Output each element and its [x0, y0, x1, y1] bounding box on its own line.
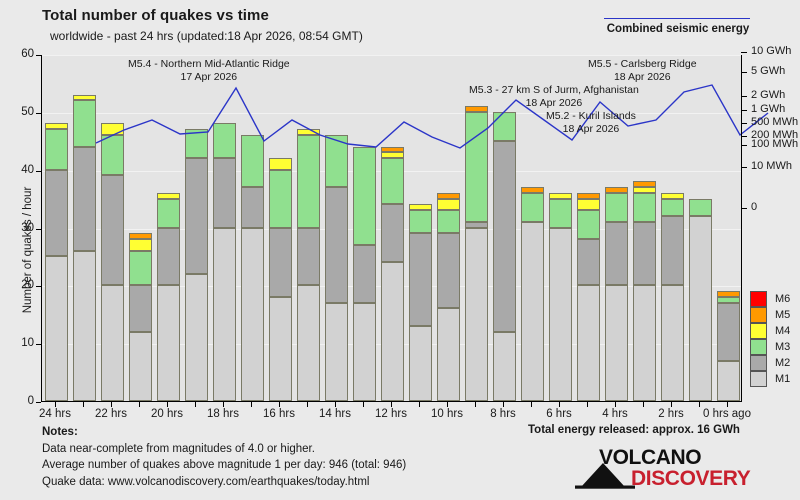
- energy-legend: Combined seismic energy: [604, 18, 752, 35]
- x-axis-tick-label: 14 hrs: [305, 408, 365, 420]
- x-axis-tick-label: 16 hrs: [249, 408, 309, 420]
- right-axis-tick-label: 5 GWh: [751, 66, 785, 77]
- x-axis-tick: [587, 402, 588, 407]
- notes-line-1: Data near-complete from magnitudes of 4.…: [42, 441, 406, 458]
- y-axis-tick-label: 50: [0, 107, 34, 119]
- x-axis-tick: [279, 402, 280, 407]
- legend-label: M4: [775, 325, 790, 337]
- x-axis-tick-label: 8 hrs: [473, 408, 533, 420]
- x-axis-tick-label: 10 hrs: [417, 408, 477, 420]
- x-axis-tick-label: 0 hrs ago: [697, 408, 757, 420]
- right-axis-tick-label: 2 GWh: [751, 90, 785, 101]
- x-axis-tick: [335, 402, 336, 407]
- x-axis-tick-label: 24 hrs: [25, 408, 85, 420]
- x-axis-tick: [727, 402, 728, 407]
- legend-swatch: [750, 339, 767, 355]
- legend-swatch: [750, 371, 767, 387]
- legend-swatch: [750, 307, 767, 323]
- x-axis-tick-label: 18 hrs: [193, 408, 253, 420]
- x-axis-tick: [83, 402, 84, 407]
- legend-label: M1: [775, 373, 790, 385]
- x-axis-tick-label: 20 hrs: [137, 408, 197, 420]
- legend-item-m3[interactable]: M3: [750, 339, 798, 355]
- x-axis-tick: [559, 402, 560, 407]
- right-axis-tick-label: 500 MWh: [751, 117, 798, 128]
- legend-label: M6: [775, 293, 790, 305]
- annotation-line-2: 18 Apr 2026: [469, 97, 639, 110]
- legend-item-m6[interactable]: M6: [750, 291, 798, 307]
- x-axis-tick: [111, 402, 112, 407]
- quake-annotation: M5.2 - Kuril Islands18 Apr 2026: [546, 110, 636, 135]
- total-energy-label: Total energy released: approx. 16 GWh: [528, 424, 740, 436]
- energy-legend-label: Combined seismic energy: [604, 23, 752, 35]
- legend-swatch: [750, 323, 767, 339]
- x-axis-tick: [643, 402, 644, 407]
- y-axis-label: Number of quakes / hour: [22, 187, 34, 314]
- right-axis: [741, 55, 742, 402]
- x-axis-tick: [195, 402, 196, 407]
- notes-line-2: Average number of quakes above magnitude…: [42, 457, 406, 474]
- notes-line-3[interactable]: Quake data: www.volcanodiscovery.com/ear…: [42, 474, 406, 491]
- annotation-line-1: M5.4 - Northern Mid-Atlantic Ridge: [128, 58, 290, 71]
- energy-line-swatch: [604, 18, 750, 19]
- right-axis-tick: [741, 208, 747, 209]
- chart-page: Total number of quakes vs time worldwide…: [0, 0, 800, 500]
- right-axis-tick-label: 10 GWh: [751, 46, 791, 57]
- quake-annotation: M5.5 - Carlsberg Ridge18 Apr 2026: [588, 58, 697, 83]
- x-axis-tick-label: 22 hrs: [81, 408, 141, 420]
- x-axis-tick: [615, 402, 616, 407]
- legend-label: M5: [775, 309, 790, 321]
- annotation-line-2: 18 Apr 2026: [588, 71, 697, 84]
- legend-swatch: [750, 291, 767, 307]
- annotation-line-1: M5.5 - Carlsberg Ridge: [588, 58, 697, 71]
- right-axis-tick: [741, 136, 747, 137]
- y-axis-tick: [36, 113, 41, 114]
- x-axis-tick: [167, 402, 168, 407]
- right-axis-tick: [741, 145, 747, 146]
- y-axis-tick: [36, 402, 41, 403]
- x-axis-tick-label: 6 hrs: [529, 408, 589, 420]
- annotation-line-2: 17 Apr 2026: [128, 71, 290, 84]
- notes-heading: Notes:: [42, 424, 406, 441]
- legend-label: M2: [775, 357, 790, 369]
- x-axis-tick-label: 4 hrs: [585, 408, 645, 420]
- svg-text:VOLCANO: VOLCANO: [599, 447, 701, 469]
- right-axis-tick-label: 10 MWh: [751, 161, 792, 172]
- y-axis-tick-label: 10: [0, 338, 34, 350]
- right-axis-tick: [741, 72, 747, 73]
- y-axis-tick-label: 20: [0, 280, 34, 292]
- y-axis-tick: [36, 55, 41, 56]
- x-axis-tick: [363, 402, 364, 407]
- y-axis-tick-label: 0: [0, 396, 34, 408]
- quake-annotation: M5.3 - 27 km S of Jurm, Afghanistan18 Ap…: [469, 84, 639, 109]
- x-axis-tick: [55, 402, 56, 407]
- legend-item-m2[interactable]: M2: [750, 355, 798, 371]
- right-axis-tick-label: 0: [751, 202, 757, 213]
- x-axis-tick: [307, 402, 308, 407]
- y-axis-tick-label: 60: [0, 49, 34, 61]
- x-axis-tick: [419, 402, 420, 407]
- x-axis-tick: [251, 402, 252, 407]
- legend-item-m4[interactable]: M4: [750, 323, 798, 339]
- annotation-line-1: M5.3 - 27 km S of Jurm, Afghanistan: [469, 84, 639, 97]
- page-subtitle: worldwide - past 24 hrs (updated:18 Apr …: [50, 29, 363, 43]
- x-axis-tick-label: 2 hrs: [641, 408, 701, 420]
- x-axis-tick: [223, 402, 224, 407]
- legend-swatch: [750, 355, 767, 371]
- svg-text:DISCOVERY: DISCOVERY: [631, 467, 751, 490]
- x-axis-tick: [531, 402, 532, 407]
- notes-block: Notes: Data near-complete from magnitude…: [42, 424, 406, 490]
- page-title: Total number of quakes vs time: [42, 7, 269, 24]
- annotation-line-1: M5.2 - Kuril Islands: [546, 110, 636, 123]
- legend-label: M3: [775, 341, 790, 353]
- right-axis-tick: [741, 123, 747, 124]
- right-axis-tick: [741, 96, 747, 97]
- annotation-line-2: 18 Apr 2026: [546, 123, 636, 136]
- x-axis-tick-label: 12 hrs: [361, 408, 421, 420]
- y-axis-tick-label: 40: [0, 165, 34, 177]
- y-axis-tick: [36, 286, 41, 287]
- x-axis-tick: [447, 402, 448, 407]
- quake-annotation: M5.4 - Northern Mid-Atlantic Ridge17 Apr…: [128, 58, 290, 83]
- x-axis-tick: [671, 402, 672, 407]
- x-axis-tick: [475, 402, 476, 407]
- legend-item-m1[interactable]: M1: [750, 371, 798, 387]
- y-axis-tick: [36, 344, 41, 345]
- right-axis-tick-label: 100 MWh: [751, 139, 798, 150]
- y-axis-tick: [36, 229, 41, 230]
- right-axis-tick: [741, 110, 747, 111]
- volcanodiscovery-logo: VOLCANO DISCOVERY: [575, 447, 765, 491]
- x-axis-tick: [503, 402, 504, 407]
- y-axis-tick-label: 30: [0, 223, 34, 235]
- right-axis-tick: [741, 167, 747, 168]
- x-axis-tick: [139, 402, 140, 407]
- right-axis-tick: [741, 52, 747, 53]
- magnitude-legend: M6M5M4M3M2M1: [750, 291, 798, 387]
- legend-item-m5[interactable]: M5: [750, 307, 798, 323]
- y-axis-tick: [36, 171, 41, 172]
- right-axis-tick-label: 1 GWh: [751, 104, 785, 115]
- x-axis-tick: [391, 402, 392, 407]
- x-axis-tick: [699, 402, 700, 407]
